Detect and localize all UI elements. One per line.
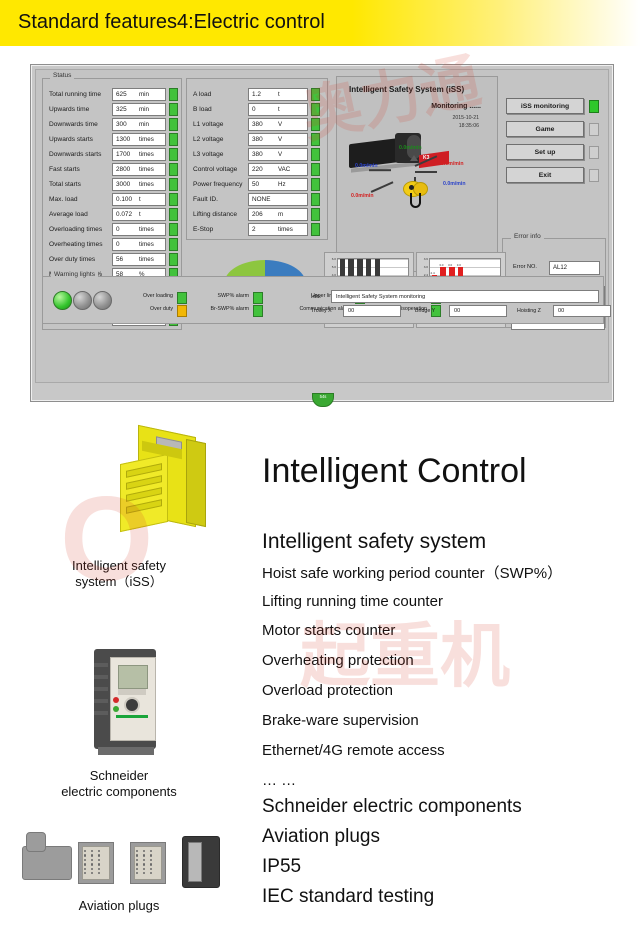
row-label: A load bbox=[193, 91, 248, 98]
motion-arrow-left bbox=[369, 169, 391, 171]
status-row: L3 voltage380V bbox=[193, 147, 320, 162]
row-led-icon bbox=[169, 238, 178, 251]
hmi-button-led-icon bbox=[589, 146, 599, 159]
row-unit: t bbox=[278, 106, 280, 113]
hook-block bbox=[397, 177, 433, 211]
status-row: L1 voltage380V bbox=[193, 117, 320, 132]
safety-relay-image bbox=[112, 425, 212, 535]
row-unit: min bbox=[139, 91, 149, 98]
row-unit: times bbox=[139, 256, 154, 263]
status-row: A load1.2t bbox=[193, 87, 320, 102]
status-row: Upwards starts1300times bbox=[49, 132, 178, 147]
hmi-button-led-icon bbox=[589, 123, 599, 136]
feature-item: Brake-ware supervision bbox=[262, 712, 419, 729]
row-label: Overheating times bbox=[49, 241, 112, 248]
caption-line: Schneider bbox=[14, 768, 224, 784]
row-value: 206 bbox=[249, 211, 278, 218]
speed-left-lower: 0.0m/min bbox=[351, 193, 374, 199]
spec-item: IP55 bbox=[262, 856, 301, 878]
row-field[interactable]: 56times bbox=[112, 253, 166, 266]
row-led-icon bbox=[311, 148, 320, 161]
chart-data-label: 3.0 bbox=[457, 263, 461, 267]
row-field[interactable]: 0.100t bbox=[112, 193, 166, 206]
feature-item: Hoist safe working period counter（SWP%） bbox=[262, 562, 562, 583]
hmi-button-row: Set up bbox=[506, 144, 602, 160]
row-value: 0 bbox=[113, 226, 139, 233]
status-row: Overloading times0times bbox=[49, 222, 178, 237]
row-field[interactable]: 1.2t bbox=[248, 88, 308, 101]
row-value: 380 bbox=[249, 151, 278, 158]
chart-ytick: 6.0 bbox=[327, 257, 336, 261]
hmi-button-led-icon bbox=[589, 169, 599, 182]
status-row: Total starts3000times bbox=[49, 177, 178, 192]
row-value: 0.072 bbox=[113, 211, 139, 218]
coord-label: Trolley X bbox=[311, 308, 332, 314]
row-led-icon bbox=[169, 193, 178, 206]
hmi-button-row: iSS monitoring bbox=[506, 98, 602, 114]
status-row: Fault ID.NONE bbox=[193, 192, 320, 207]
row-label: L1 voltage bbox=[193, 121, 248, 128]
chart-ytick: 3.6 bbox=[419, 257, 428, 261]
row-led-icon bbox=[169, 163, 178, 176]
status-row: Total running time625min bbox=[49, 87, 178, 102]
row-unit: times bbox=[139, 181, 154, 188]
row-field[interactable]: 380V bbox=[248, 148, 308, 161]
hmi-panel: Status Total running time625minUpwards t… bbox=[30, 64, 614, 402]
row-label: Upwards starts bbox=[49, 136, 112, 143]
measurement-group: A load1.2tB load0tL1 voltage380VL2 volta… bbox=[186, 78, 328, 240]
row-label: Fast starts bbox=[49, 166, 112, 173]
info-label: Info. bbox=[311, 294, 321, 300]
hmi-button-led-icon bbox=[589, 100, 599, 113]
row-label: Downwards starts bbox=[49, 151, 112, 158]
schneider-drive-image bbox=[80, 645, 176, 757]
hmi-button-row: Game bbox=[506, 121, 602, 137]
warning-led-icon bbox=[253, 292, 263, 304]
row-led-icon bbox=[311, 88, 320, 101]
row-field[interactable]: 50Hz bbox=[248, 178, 308, 191]
relay-side bbox=[186, 439, 206, 527]
row-led-icon bbox=[169, 208, 178, 221]
aviation-plugs-image bbox=[18, 828, 233, 894]
row-led-icon bbox=[169, 103, 178, 116]
info-value[interactable]: Intelligent Safety System monitoring bbox=[331, 290, 599, 303]
row-led-icon bbox=[169, 253, 178, 266]
drive-fin-2 bbox=[94, 675, 108, 679]
row-field[interactable]: 300min bbox=[112, 118, 166, 131]
warning-lights-title: Warning lights bbox=[51, 271, 98, 278]
row-label: Upwards time bbox=[49, 106, 112, 113]
drive-run-button bbox=[113, 706, 119, 712]
chart-data-label: 3.0 bbox=[448, 263, 452, 267]
row-value: 1.2 bbox=[249, 91, 278, 98]
row-value: 380 bbox=[249, 136, 278, 143]
row-value: 625 bbox=[113, 91, 139, 98]
feature-item: Motor starts counter bbox=[262, 622, 395, 639]
row-label: E-Stop bbox=[193, 226, 248, 233]
row-value: 1700 bbox=[113, 151, 139, 158]
spec-item: IEC standard testing bbox=[262, 886, 434, 908]
row-label: Power frequency bbox=[193, 181, 248, 188]
status-row: B load0t bbox=[193, 102, 320, 117]
warning-label: Br-SWP% alarm bbox=[177, 306, 249, 312]
row-led-icon bbox=[169, 133, 178, 146]
drive-keys bbox=[118, 689, 146, 695]
row-field[interactable]: 2800times bbox=[112, 163, 166, 176]
plug-face-a bbox=[82, 846, 110, 880]
row-value: 300 bbox=[113, 121, 139, 128]
drive-brand-bar bbox=[116, 715, 148, 718]
row-field[interactable]: 380V bbox=[248, 118, 308, 131]
hmi-button-row: Exit bbox=[506, 167, 602, 183]
status-row: Upwards time325min bbox=[49, 102, 178, 117]
row-value: 3000 bbox=[113, 181, 139, 188]
status-row: Downwards time300min bbox=[49, 117, 178, 132]
row-value: 380 bbox=[249, 121, 278, 128]
row-field[interactable]: 1700times bbox=[112, 148, 166, 161]
plug-latch bbox=[188, 842, 202, 882]
row-field[interactable]: 3000times bbox=[112, 178, 166, 191]
row-field[interactable]: 325min bbox=[112, 103, 166, 116]
row-value: 325 bbox=[113, 106, 139, 113]
row-field[interactable]: 1300times bbox=[112, 133, 166, 146]
row-unit: times bbox=[278, 226, 293, 233]
row-unit: times bbox=[139, 241, 154, 248]
motion-arrow-up-head bbox=[410, 155, 418, 161]
row-led-icon bbox=[169, 118, 178, 131]
warning-lights-group: Warning lights Over loadingOver dutySWP%… bbox=[42, 276, 604, 324]
row-label: B load bbox=[193, 106, 248, 113]
row-label: Control voltage bbox=[193, 166, 248, 173]
row-unit: times bbox=[139, 151, 154, 158]
row-field[interactable]: 206m bbox=[248, 208, 308, 221]
chart-data-label: 2.4 bbox=[431, 271, 435, 275]
row-unit: min bbox=[139, 106, 149, 113]
status-group-title: Status bbox=[50, 72, 74, 79]
page-title: Standard features4:Electric control bbox=[18, 11, 325, 34]
plug-hood-entry bbox=[26, 832, 46, 852]
status-row: Downwards starts1700times bbox=[49, 147, 178, 162]
caption-relay: Intelligent safetysystem（iSS） bbox=[14, 558, 224, 591]
row-unit: VAC bbox=[278, 166, 290, 173]
drive-stop-button bbox=[113, 697, 119, 703]
row-led-icon bbox=[311, 223, 320, 236]
display-date: 2015-10-21 bbox=[452, 115, 479, 121]
error-no-label: Error NO. bbox=[513, 264, 537, 270]
coord-field[interactable]: 00 bbox=[553, 305, 611, 317]
row-led-icon bbox=[311, 133, 320, 146]
status-row: Average load0.072t bbox=[49, 207, 178, 222]
coord-label: Bridge Y bbox=[415, 308, 435, 314]
speed-left-upper: 0.0m/min bbox=[355, 163, 378, 169]
row-unit: t bbox=[139, 211, 141, 218]
speed-right-lower: 0.0m/min bbox=[443, 181, 466, 187]
row-unit: t bbox=[278, 91, 280, 98]
row-led-icon bbox=[311, 208, 320, 221]
drive-fin-5 bbox=[94, 711, 108, 715]
row-field[interactable]: 0.072t bbox=[112, 208, 166, 221]
row-field[interactable]: 0t bbox=[248, 103, 308, 116]
speed-up: 0.0m/min bbox=[399, 145, 422, 151]
section-title-iss: Intelligent safety system bbox=[262, 530, 486, 554]
row-led-icon bbox=[311, 163, 320, 176]
content-heading: Intelligent Control bbox=[262, 452, 527, 491]
row-field[interactable]: 380V bbox=[248, 133, 308, 146]
chart-gridline bbox=[430, 259, 500, 260]
caption-line: system（iSS） bbox=[14, 574, 224, 590]
row-unit: min bbox=[139, 121, 149, 128]
status-row: Power frequency50Hz bbox=[193, 177, 320, 192]
row-led-icon bbox=[311, 193, 320, 206]
row-value: 0 bbox=[113, 241, 139, 248]
drive-base bbox=[98, 747, 154, 755]
row-led-icon bbox=[311, 178, 320, 191]
row-unit: times bbox=[139, 226, 154, 233]
feature-item: Ethernet/4G remote access bbox=[262, 742, 445, 759]
plug-face-b bbox=[134, 846, 162, 880]
row-label: Downwards time bbox=[49, 121, 112, 128]
hmi-button[interactable]: Exit bbox=[506, 167, 584, 183]
row-label: Overloading times bbox=[49, 226, 112, 233]
row-value: 0 bbox=[249, 106, 278, 113]
row-unit: times bbox=[139, 136, 154, 143]
caption-line: Aviation plugs bbox=[14, 898, 224, 914]
row-value: 220 bbox=[249, 166, 278, 173]
hmi-button[interactable]: Set up bbox=[506, 144, 584, 160]
title-banner: Standard features4:Electric control bbox=[0, 0, 640, 46]
drive-fin-4 bbox=[94, 699, 108, 703]
row-unit: times bbox=[139, 166, 154, 173]
hmi-button[interactable]: Game bbox=[506, 121, 584, 137]
row-label: Total starts bbox=[49, 181, 112, 188]
row-label: Fault ID. bbox=[193, 196, 248, 203]
row-field[interactable]: 220VAC bbox=[248, 163, 308, 176]
row-value: 50 bbox=[249, 181, 278, 188]
feature-item: Overheating protection bbox=[262, 652, 414, 669]
caption-line: Intelligent safety bbox=[14, 558, 224, 574]
caption-drive: Schneiderelectric components bbox=[14, 768, 224, 801]
caption-line: electric components bbox=[14, 784, 224, 800]
row-value: 1300 bbox=[113, 136, 139, 143]
error-info-title: Error info bbox=[511, 233, 544, 240]
chart-data-label: 3.0 bbox=[439, 263, 443, 267]
row-led-icon bbox=[169, 178, 178, 191]
drive-screen bbox=[118, 665, 148, 689]
row-field[interactable]: NONE bbox=[248, 193, 308, 206]
row-label: Total running time bbox=[49, 91, 112, 98]
monitoring-status: Monitoring ...... bbox=[431, 103, 481, 110]
error-no-value[interactable]: AL12 bbox=[549, 261, 600, 275]
hook-icon bbox=[410, 193, 421, 208]
status-row: Fast starts2800times bbox=[49, 162, 178, 177]
row-led-icon bbox=[311, 118, 320, 131]
chart-ytick: 5.0 bbox=[327, 265, 336, 269]
drive-fin-3 bbox=[94, 687, 108, 691]
row-value: 2800 bbox=[113, 166, 139, 173]
motion-arrow-right bbox=[415, 171, 437, 173]
drive-fin-1 bbox=[94, 663, 108, 667]
row-value: 0.100 bbox=[113, 196, 139, 203]
row-value: NONE bbox=[249, 196, 278, 203]
status-row: Overheating times0times bbox=[49, 237, 178, 252]
drive-jog-dial bbox=[124, 697, 140, 713]
iss-display-area: Intelligent Safety System (iSS) Monitori… bbox=[336, 76, 498, 272]
warning-label: Over loading bbox=[109, 293, 173, 299]
warning-label: Over duty bbox=[109, 306, 173, 312]
row-unit: Hz bbox=[278, 181, 286, 188]
speed-right-upper: 0.0m/min bbox=[441, 161, 464, 167]
status-row: Over duty times56times bbox=[49, 252, 178, 267]
spec-item: Aviation plugs bbox=[262, 826, 380, 848]
coord-field[interactable]: 00 bbox=[449, 305, 507, 317]
hmi-button[interactable]: iSS monitoring bbox=[506, 98, 584, 114]
status-row: Lifting distance206m bbox=[193, 207, 320, 222]
indicator-lamp-2 bbox=[73, 291, 92, 310]
hmi-timer-knob[interactable]: 54s bbox=[312, 393, 334, 407]
coord-field[interactable]: 00 bbox=[343, 305, 401, 317]
row-label: L3 voltage bbox=[193, 151, 248, 158]
caption-plugs: Aviation plugs bbox=[14, 898, 224, 914]
row-value: 56 bbox=[113, 256, 139, 263]
status-row: Control voltage220VAC bbox=[193, 162, 320, 177]
chart-ytick: 3.0 bbox=[419, 265, 428, 269]
warning-label: Communication alarm bbox=[253, 306, 351, 312]
spec-item: Schneider electric components bbox=[262, 796, 522, 818]
row-label: Average load bbox=[49, 211, 112, 218]
row-label: L2 voltage bbox=[193, 136, 248, 143]
row-unit: m bbox=[278, 211, 283, 218]
warning-label: SWP% alarm bbox=[185, 293, 249, 299]
hoist-illustration: K3 bbox=[343, 129, 463, 177]
pulley-pin bbox=[409, 185, 414, 190]
feature-item: Overload protection bbox=[262, 682, 393, 699]
row-unit: V bbox=[278, 121, 282, 128]
status-row: E-Stop2times bbox=[193, 222, 320, 237]
row-label: Max. load bbox=[49, 196, 112, 203]
row-field[interactable]: 2times bbox=[248, 223, 308, 236]
row-field[interactable]: 0times bbox=[112, 223, 166, 236]
feature-item: … … bbox=[262, 772, 296, 789]
hmi-screen: Status Total running time625minUpwards t… bbox=[35, 69, 609, 383]
row-label: Over duty times bbox=[49, 256, 112, 263]
status-row: L2 voltage380V bbox=[193, 132, 320, 147]
coord-label: Hoisting Z bbox=[517, 308, 541, 314]
row-value: 2 bbox=[249, 226, 278, 233]
motion-arrow-down-left bbox=[371, 181, 394, 193]
row-led-icon bbox=[311, 103, 320, 116]
feature-item: Lifting running time counter bbox=[262, 593, 443, 610]
row-field[interactable]: 0times bbox=[112, 238, 166, 251]
row-unit: V bbox=[278, 136, 282, 143]
indicator-lamp-1 bbox=[53, 291, 72, 310]
status-row: Max. load0.100t bbox=[49, 192, 178, 207]
row-led-icon bbox=[169, 148, 178, 161]
row-label: Lifting distance bbox=[193, 211, 248, 218]
iss-title: Intelligent Safety System (iSS) bbox=[349, 85, 464, 94]
row-unit: V bbox=[278, 151, 282, 158]
row-unit: t bbox=[139, 196, 141, 203]
row-led-icon bbox=[169, 88, 178, 101]
row-led-icon bbox=[169, 223, 178, 236]
row-field[interactable]: 625min bbox=[112, 88, 166, 101]
hmi-button-group: iSS monitoringGameSet upExit bbox=[506, 98, 602, 190]
